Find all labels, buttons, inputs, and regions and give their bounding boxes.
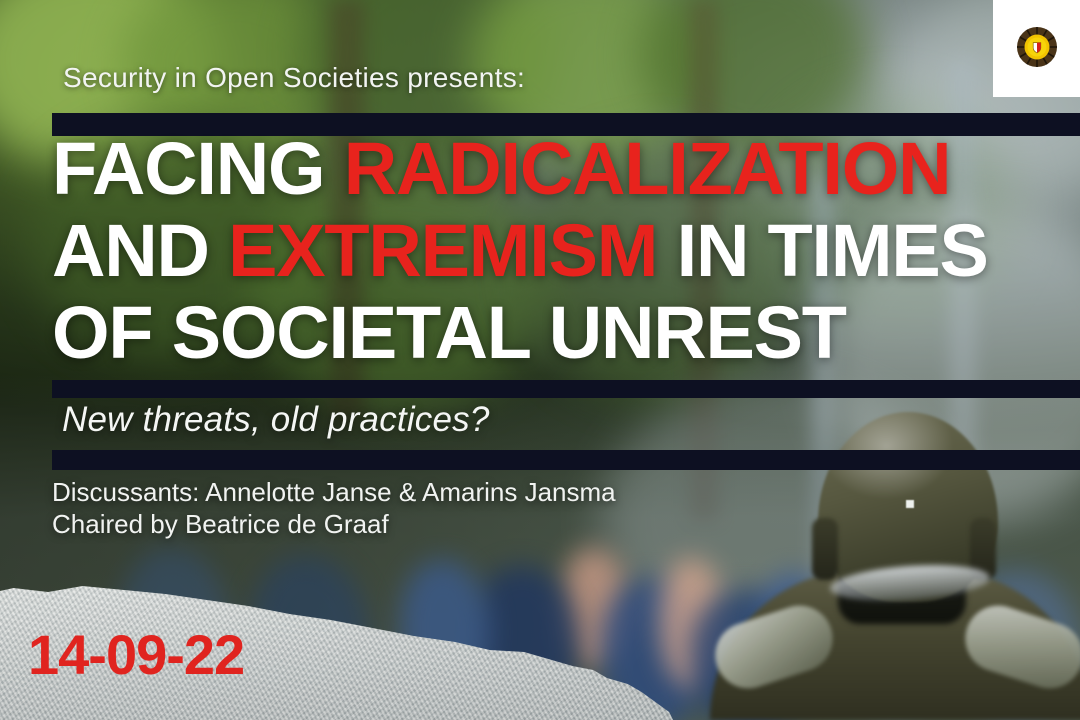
credits-chair: Chaired by Beatrice de Graaf <box>52 508 616 540</box>
headline-seg-facing: FACING <box>52 127 344 210</box>
subtitle: New threats, old practices? <box>62 400 490 440</box>
presenter-line: Security in Open Societies presents: <box>63 62 525 94</box>
credits-block: Discussants: Annelotte Janse & Amarins J… <box>52 476 616 540</box>
riot-officer-figure <box>710 460 1080 720</box>
headline-seg-in-times: IN TIMES <box>657 209 987 292</box>
divider-bar-middle <box>52 380 1080 398</box>
headline-line-2: AND EXTREMISM IN TIMES <box>52 210 1072 292</box>
page-title: FACING RADICALIZATION AND EXTREMISM IN T… <box>52 128 1072 374</box>
event-poster: Security in Open Societies presents: FAC… <box>0 0 1080 720</box>
utrecht-university-sun-icon <box>1015 25 1059 69</box>
logo-panel <box>993 0 1080 97</box>
divider-bar-bottom <box>52 450 1080 470</box>
headline-seg-radicalization: RADICALIZATION <box>344 127 951 210</box>
event-date: 14-09-22 <box>28 622 244 687</box>
headline-line-3: OF SOCIETAL UNREST <box>52 292 1072 374</box>
credits-discussants: Discussants: Annelotte Janse & Amarins J… <box>52 476 616 508</box>
headline-seg-and: AND <box>52 209 228 292</box>
headline-seg-extremism: EXTREMISM <box>228 209 657 292</box>
headline-seg-of-societal-unrest: OF SOCIETAL UNREST <box>52 291 846 374</box>
headline-line-1: FACING RADICALIZATION <box>52 128 1072 210</box>
